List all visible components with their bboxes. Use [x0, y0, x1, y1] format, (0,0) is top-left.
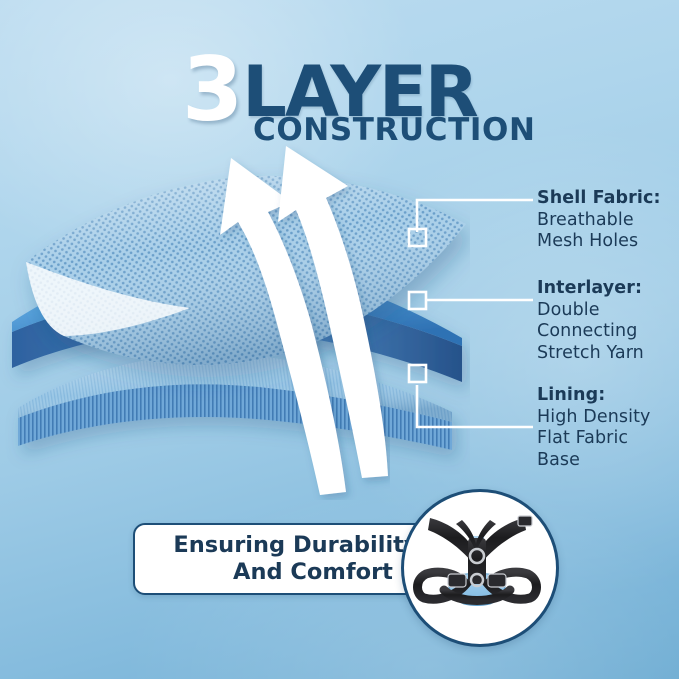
callout-label-lining: Lining: High Density Flat Fabric Base	[537, 385, 651, 472]
callout-body-interlayer-line3: Stretch Yarn	[537, 343, 644, 365]
callout-label-shell-fabric: Shell Fabric: Breathable Mesh Holes	[537, 188, 661, 253]
callout-body-lining-line1: High Density	[537, 407, 651, 429]
fabric-layer-stack	[0, 150, 470, 510]
callout-body-shell-line2: Mesh Holes	[537, 231, 661, 253]
callout-body-lining-line3: Base	[537, 450, 651, 472]
callout-body-shell-line1: Breathable	[537, 210, 661, 232]
callout-heading-lining: Lining:	[537, 385, 651, 407]
harness-buckle-top-right	[518, 516, 532, 526]
title-number: 3	[182, 54, 240, 126]
layer-stack-graphic	[0, 150, 470, 510]
layer-lining	[18, 354, 452, 450]
title-subtitle: CONSTRUCTION	[253, 112, 536, 148]
infographic-canvas: 3 LAYER CONSTRUCTION	[0, 0, 679, 679]
product-image-circle	[401, 489, 559, 647]
tagline-line1: Ensuring Durability	[173, 532, 418, 558]
title-block: 3 LAYER CONSTRUCTION	[0, 26, 679, 136]
dog-harness-icon	[404, 492, 550, 638]
callout-body-interlayer-line1: Double	[537, 300, 644, 322]
callout-heading-shell: Shell Fabric:	[537, 188, 661, 210]
harness-buckle-left	[448, 574, 466, 587]
tagline-line2: And Comfort	[173, 559, 418, 586]
callout-body-lining-line2: Flat Fabric	[537, 428, 651, 450]
callout-label-interlayer: Interlayer: Double Connecting Stretch Ya…	[537, 278, 644, 365]
callout-heading-interlayer: Interlayer:	[537, 278, 644, 300]
callout-body-interlayer-line2: Connecting	[537, 321, 644, 343]
tagline-text: Ensuring Durability And Comfort	[159, 532, 432, 585]
harness-buckle-right	[488, 574, 506, 587]
